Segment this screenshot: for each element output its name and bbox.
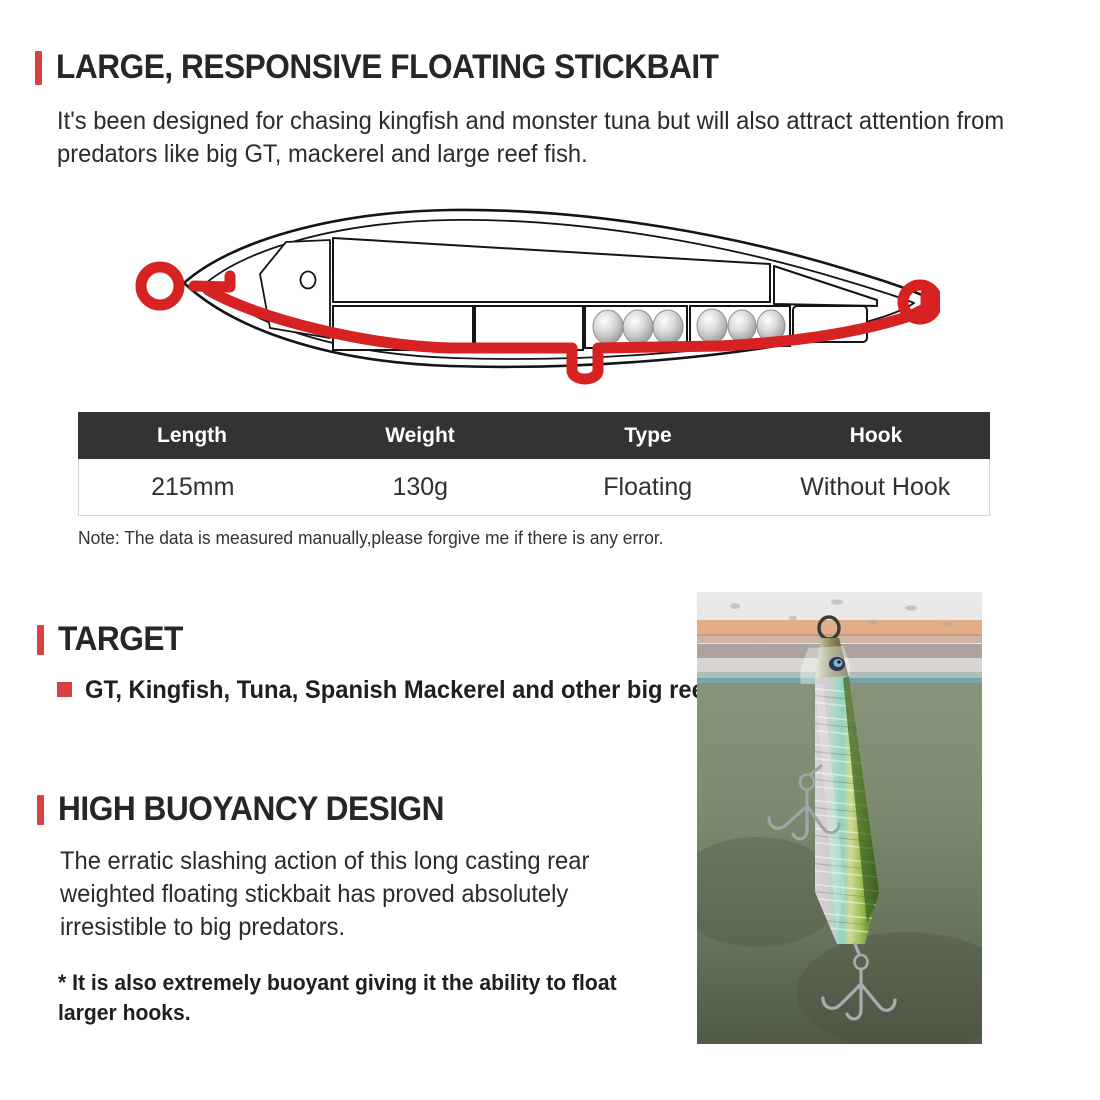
- buoyancy-heading: HIGH BUOYANCY DESIGN: [37, 790, 473, 829]
- lure-cutaway-diagram: [120, 188, 940, 400]
- spec-cell-type: Floating: [534, 473, 762, 502]
- square-bullet-icon: [57, 682, 72, 697]
- lure-floating-underwater-photo: [697, 592, 982, 1044]
- buoyancy-heading-text: HIGH BUOYANCY DESIGN: [58, 790, 444, 829]
- product-infographic-page: LARGE, RESPONSIVE FLOATING STICKBAIT It'…: [0, 0, 1100, 1100]
- main-heading-text: LARGE, RESPONSIVE FLOATING STICKBAIT: [56, 48, 719, 87]
- accent-bar-icon: [37, 625, 44, 655]
- target-bullet-text: GT, Kingfish, Tuna, Spanish Mackerel and…: [85, 673, 768, 707]
- weight-ball: [697, 309, 727, 343]
- spec-table-header-row: Length Weight Type Hook: [78, 412, 990, 459]
- main-heading: LARGE, RESPONSIVE FLOATING STICKBAIT: [35, 48, 768, 87]
- weight-ball: [653, 310, 683, 344]
- spec-column-header: Hook: [762, 424, 990, 448]
- accent-bar-icon: [35, 51, 42, 85]
- spec-cell-hook: Without Hook: [762, 473, 990, 502]
- weight-ball: [593, 310, 623, 344]
- buoyancy-description: The erratic slashing action of this long…: [60, 845, 649, 944]
- spec-table-note: Note: The data is measured manually,plea…: [78, 528, 664, 549]
- spec-cell-weight: 130g: [307, 473, 535, 502]
- target-heading: TARGET: [37, 620, 192, 659]
- main-description: It's been designed for chasing kingfish …: [57, 105, 1017, 171]
- spec-table-row: 215mm 130g Floating Without Hook: [78, 459, 990, 516]
- accent-bar-icon: [37, 795, 44, 825]
- front-line-eye: [141, 267, 179, 305]
- spec-column-header: Type: [534, 424, 762, 448]
- target-heading-text: TARGET: [58, 620, 183, 659]
- spec-cell-length: 215mm: [79, 473, 307, 502]
- weight-ball: [623, 310, 653, 344]
- spec-column-header: Weight: [306, 424, 534, 448]
- buoyancy-note: * It is also extremely buoyant giving it…: [58, 968, 653, 1029]
- target-bullet-item: GT, Kingfish, Tuna, Spanish Mackerel and…: [57, 673, 804, 707]
- weight-ball: [728, 310, 756, 342]
- lure-eye-icon: [301, 272, 316, 289]
- spec-table: Length Weight Type Hook 215mm 130g Float…: [78, 412, 990, 516]
- spec-column-header: Length: [78, 424, 306, 448]
